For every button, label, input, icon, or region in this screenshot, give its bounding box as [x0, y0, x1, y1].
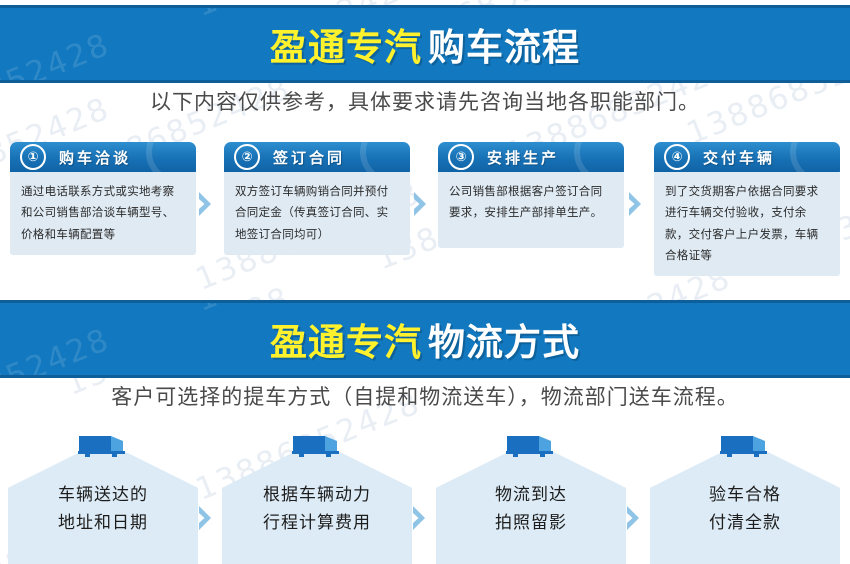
- logistics-card-2[interactable]: 根据车辆动力 行程计算费用: [222, 432, 412, 564]
- step-card-2-header: ② 签订合同: [224, 142, 410, 172]
- banner-title-row: 盈通专汽 购车流程: [0, 8, 850, 80]
- logistics-card-3[interactable]: 物流到达 拍照留影: [436, 432, 626, 564]
- step-card-2[interactable]: ② 签订合同 双方签订车辆购销合同并预付合同定金（传真签订合同、实地签订合同均可…: [224, 142, 410, 255]
- step-card-1[interactable]: ① 购车洽谈 通过电话联系方式或实地考察和公司销售部洽谈车辆型号、价格和车辆配置…: [10, 142, 196, 255]
- logistics-card-2-line2: 行程计算费用: [222, 510, 412, 538]
- logistics-card-3-text: 物流到达 拍照留影: [436, 482, 626, 537]
- logistics-card-1-line1: 车辆送达的: [8, 482, 198, 510]
- step-card-3-body: 公司销售部根据客户签订合同要求，安排生产部排单生产。: [438, 172, 624, 248]
- truck-icon: [77, 432, 129, 458]
- logistics-card-4-line2: 付清全款: [650, 510, 840, 538]
- chevron-right-icon: [411, 190, 431, 218]
- truck-icon: [719, 432, 771, 458]
- step-card-3-header: ③ 安排生产: [438, 142, 624, 172]
- logistics-card-1-text: 车辆送达的 地址和日期: [8, 482, 198, 537]
- step-number-badge: ③: [448, 144, 474, 170]
- logistics-card-2-text: 根据车辆动力 行程计算费用: [222, 482, 412, 537]
- chevron-right-icon: [196, 504, 216, 532]
- logistics-card-4-text: 验车合格 付清全款: [650, 482, 840, 537]
- logistics-cards-row: 车辆送达的 地址和日期 根据车辆动力 行程计算费用: [0, 432, 850, 564]
- step-number-badge: ④: [664, 144, 690, 170]
- step-card-3[interactable]: ③ 安排生产 公司销售部根据客户签订合同要求，安排生产部排单生产。: [438, 142, 624, 248]
- logistics-card-2-line1: 根据车辆动力: [222, 482, 412, 510]
- step-card-4-title: 交付车辆: [703, 147, 775, 168]
- step-number-badge: ①: [20, 144, 46, 170]
- step-number-badge: ②: [234, 144, 260, 170]
- chevron-right-icon: [410, 504, 430, 532]
- purchase-process-subtitle: 以下内容仅供参考，具体要求请先咨询当地各职能部门。: [0, 86, 850, 116]
- purchase-process-banner: 1388685242813886852428138868524281388685…: [0, 5, 850, 83]
- step-card-2-body: 双方签订车辆购销合同并预付合同定金（传真签订合同、实地签订合同均可）: [224, 172, 410, 255]
- logistics-card-1[interactable]: 车辆送达的 地址和日期: [8, 432, 198, 564]
- step-card-1-header: ① 购车洽谈: [10, 142, 196, 172]
- logistics-card-4-line1: 验车合格: [650, 482, 840, 510]
- banner-brand-name: 盈通专汽: [270, 17, 422, 71]
- step-card-4[interactable]: ④ 交付车辆 到了交货期客户依据合同要求进行车辆交付验收，支付余款，交付客户上户…: [654, 142, 840, 276]
- chevron-right-icon: [626, 190, 646, 218]
- chevron-right-icon: [196, 190, 216, 218]
- step-card-4-body: 到了交货期客户依据合同要求进行车辆交付验收，支付余款，交付客户上户发票，车辆合格…: [654, 172, 840, 276]
- step-card-1-body: 通过电话联系方式或实地考察和公司销售部洽谈车辆型号、价格和车辆配置等: [10, 172, 196, 255]
- step-card-1-title: 购车洽谈: [59, 147, 131, 168]
- watermark-text: 1388685242813886852428138868524281388685…: [0, 0, 850, 3]
- logistics-banner: 1388685242813886852428138868524281388685…: [0, 300, 850, 378]
- step-card-2-title: 签订合同: [273, 147, 345, 168]
- logistics-card-1-line2: 地址和日期: [8, 510, 198, 538]
- logistics-subtitle: 客户可选择的提车方式（自提和物流送车），物流部门送车流程。: [0, 381, 850, 411]
- page-root: 1388685242813886852428138868524281388685…: [0, 0, 850, 564]
- banner-heading: 购车流程: [428, 17, 580, 71]
- truck-icon: [291, 432, 343, 458]
- logistics-card-4[interactable]: 验车合格 付清全款: [650, 432, 840, 564]
- banner-brand-name: 盈通专汽: [270, 312, 422, 366]
- banner-title-row: 盈通专汽 物流方式: [0, 303, 850, 375]
- truck-icon: [505, 432, 557, 458]
- chevron-right-icon: [624, 504, 644, 532]
- logistics-card-3-line1: 物流到达: [436, 482, 626, 510]
- logistics-card-3-line2: 拍照留影: [436, 510, 626, 538]
- step-card-3-title: 安排生产: [487, 147, 559, 168]
- step-card-4-header: ④ 交付车辆: [654, 142, 840, 172]
- banner-heading: 物流方式: [428, 312, 580, 366]
